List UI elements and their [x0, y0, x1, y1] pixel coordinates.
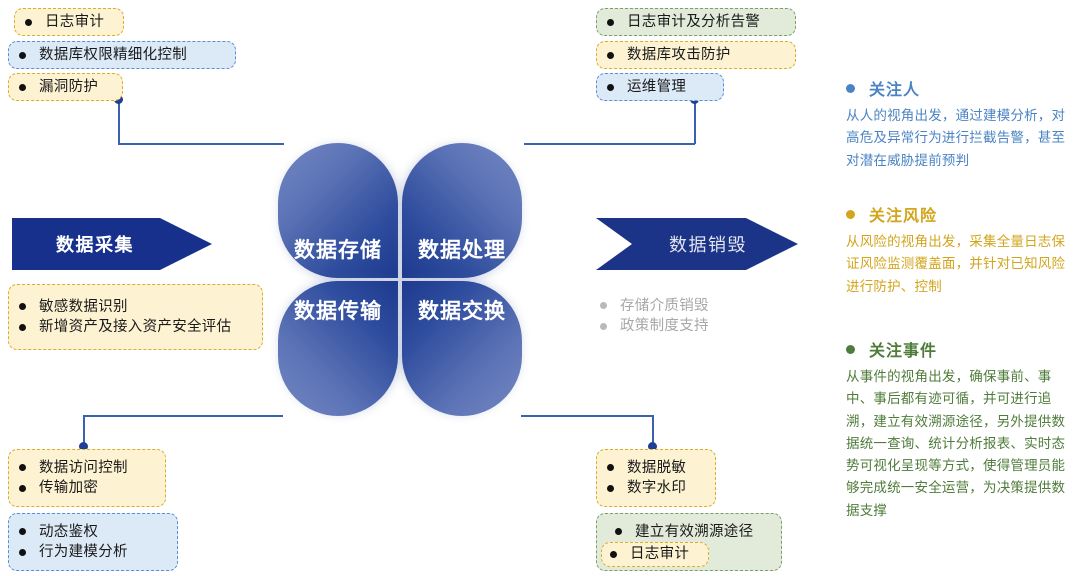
petal-label-transmission: 数据传输: [294, 295, 382, 325]
legend-header: 关注人: [846, 76, 1076, 100]
tagbox-top-right-1[interactable]: 日志审计及分析告警: [596, 8, 796, 36]
list-item: 传输加密: [19, 478, 153, 499]
bullet-icon: [19, 528, 26, 535]
bullet-icon: [607, 19, 614, 26]
tag-label: 数据访问控制: [39, 461, 128, 476]
tag-label: 日志审计: [45, 15, 104, 30]
tag-label: 日志审计及分析告警: [627, 15, 760, 30]
list-item: 新增资产及接入资产安全评估: [19, 317, 250, 338]
connector-top-right-vertical: [694, 100, 696, 144]
bullet-icon: [607, 485, 614, 492]
bullet-icon: [607, 52, 614, 59]
petal-data-storage[interactable]: 数据存储: [278, 143, 398, 278]
tag-label: 动态鉴权: [39, 525, 98, 540]
tag-label: 日志审计: [630, 547, 689, 562]
tagbox-bottom-right-1[interactable]: 数据脱敏 数字水印: [596, 449, 716, 507]
tag-label: 传输加密: [39, 481, 98, 496]
legend-header: 关注风险: [846, 202, 1076, 226]
list-item: 运维管理: [607, 77, 711, 98]
tag-label: 数据库权限精细化控制: [39, 48, 187, 63]
list-item: 日志审计: [610, 547, 700, 562]
list-item: 动态鉴权: [19, 522, 165, 543]
list-item: 数据访问控制: [19, 458, 153, 479]
list-item: 漏洞防护: [19, 77, 110, 98]
tagbox-top-right-3[interactable]: 运维管理: [596, 73, 724, 101]
tagbox-top-left-3[interactable]: 漏洞防护: [8, 73, 123, 101]
legend-dot-icon: [846, 84, 855, 93]
arrow-data-collection[interactable]: 数据采集: [12, 218, 212, 270]
bullet-icon: [615, 528, 622, 535]
diagram-canvas: 数据存储 数据处理 数据传输 数据交换 数据采集 数据销毁 日志审计 数据库权限…: [0, 0, 1080, 576]
bullet-icon: [19, 52, 26, 59]
list-item: 数据库攻击防护: [607, 45, 783, 66]
list-item: 日志审计及分析告警: [607, 12, 783, 33]
legend-title: 关注人: [869, 76, 920, 100]
petal-data-exchange[interactable]: 数据交换: [402, 281, 522, 416]
list-item: 日志审计: [25, 12, 111, 33]
tagbox-top-right-2[interactable]: 数据库攻击防护: [596, 41, 796, 69]
tagbox-bottom-left-2[interactable]: 动态鉴权 行为建模分析: [8, 513, 178, 571]
legend-header: 关注事件: [846, 337, 1076, 361]
tag-label: 敏感数据识别: [39, 300, 128, 315]
arrow-label-data-collection: 数据采集: [56, 231, 134, 257]
legend-title: 关注风险: [869, 202, 937, 226]
bullet-icon: [19, 303, 26, 310]
tag-label: 数据库攻击防护: [627, 48, 731, 63]
petal-label-storage: 数据存储: [294, 234, 382, 264]
legend-dot-icon: [846, 345, 855, 354]
connector-top-right-horizontal: [524, 143, 695, 145]
legend-block-people: 关注人 从人的视角出发，通过建模分析，对高危及异常行为进行拦截告警，甚至对潜在威…: [846, 76, 1076, 172]
tag-label: 建立有效溯源途径: [635, 525, 753, 540]
bullet-icon: [600, 302, 607, 309]
bullet-icon: [19, 549, 26, 556]
tagbox-mid-left[interactable]: 敏感数据识别 新增资产及接入资产安全评估: [8, 284, 263, 350]
connector-top-left-vertical: [118, 100, 120, 144]
legend-dot-icon: [846, 210, 855, 219]
legend-body: 从风险的视角出发，采集全量日志保证风险监测覆盖面，并针对已知风险进行防护、控制: [846, 231, 1076, 298]
petal-data-processing[interactable]: 数据处理: [402, 143, 522, 278]
legend-block-risk: 关注风险 从风险的视角出发，采集全量日志保证风险监测覆盖面，并针对已知风险进行防…: [846, 202, 1076, 298]
petal-data-transmission[interactable]: 数据传输: [278, 281, 398, 416]
tagbox-top-left-2[interactable]: 数据库权限精细化控制: [8, 41, 236, 69]
list-item: 数据脱敏: [607, 458, 703, 479]
tag-label: 数据脱敏: [627, 461, 686, 476]
tagbox-mid-right: 存储介质销毁 政策制度支持: [600, 285, 810, 347]
tagbox-top-left-1[interactable]: 日志审计: [14, 8, 124, 36]
bullet-icon: [610, 551, 617, 558]
tag-label: 运维管理: [627, 80, 686, 95]
legend-title: 关注事件: [869, 337, 937, 361]
connector-bottom-left-horizontal: [83, 415, 283, 417]
list-item: 数据库权限精细化控制: [19, 45, 223, 66]
tag-label: 行为建模分析: [39, 545, 128, 560]
list-item: 政策制度支持: [600, 316, 798, 337]
bullet-icon: [600, 323, 607, 330]
legend-body: 从人的视角出发，通过建模分析，对高危及异常行为进行拦截告警，甚至对潜在威胁提前预…: [846, 105, 1076, 172]
list-item: 行为建模分析: [19, 542, 165, 563]
list-item: 存储介质销毁: [600, 296, 798, 317]
petal-label-processing: 数据处理: [418, 234, 506, 264]
list-item: 敏感数据识别: [19, 297, 250, 318]
connector-top-left-horizontal: [118, 143, 284, 145]
legend-body: 从事件的视角出发，确保事前、事中、事后都有迹可循，并可进行追溯，建立有效溯源途径…: [846, 366, 1076, 522]
connector-bottom-right-horizontal: [521, 415, 653, 417]
bullet-icon: [19, 464, 26, 471]
tagbox-bottom-right-overlay-log-audit[interactable]: 日志审计: [601, 542, 709, 567]
tag-label: 数字水印: [627, 481, 686, 496]
arrow-data-destruction[interactable]: 数据销毁: [596, 218, 798, 270]
list-item: 建立有效溯源途径: [615, 522, 769, 543]
bullet-icon: [607, 84, 614, 91]
legend-block-event: 关注事件 从事件的视角出发，确保事前、事中、事后都有迹可循，并可进行追溯，建立有…: [846, 337, 1076, 522]
list-item: 数字水印: [607, 478, 703, 499]
tag-label: 漏洞防护: [39, 80, 98, 95]
tag-label: 政策制度支持: [620, 319, 709, 334]
tag-label: 新增资产及接入资产安全评估: [39, 320, 231, 335]
tag-label: 存储介质销毁: [620, 299, 709, 314]
tagbox-bottom-left-1[interactable]: 数据访问控制 传输加密: [8, 449, 166, 507]
bullet-icon: [607, 464, 614, 471]
bullet-icon: [19, 84, 26, 91]
arrow-label-data-destruction: 数据销毁: [669, 231, 747, 257]
bullet-icon: [19, 324, 26, 331]
petal-label-exchange: 数据交换: [418, 295, 506, 325]
bullet-icon: [25, 19, 32, 26]
bullet-icon: [19, 485, 26, 492]
